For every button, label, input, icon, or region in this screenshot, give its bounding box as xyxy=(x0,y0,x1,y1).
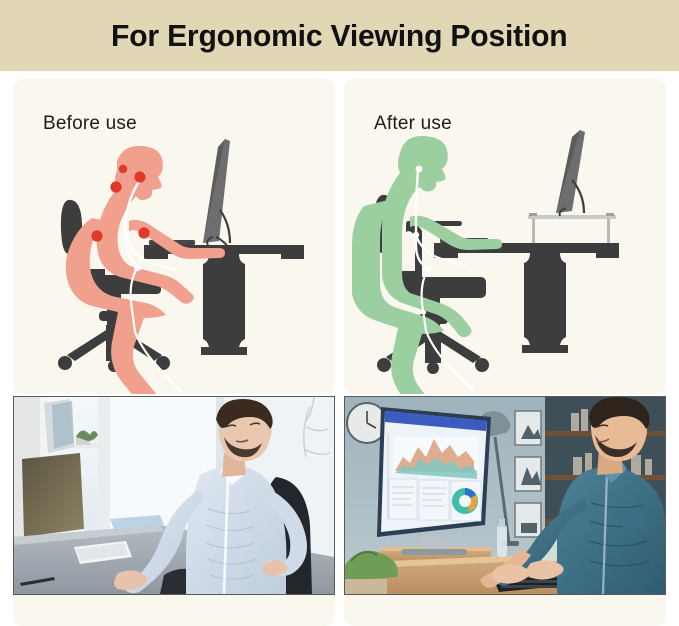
framed-picture xyxy=(515,503,541,537)
header-banner: For Ergonomic Viewing Position xyxy=(0,0,679,71)
framed-picture xyxy=(515,411,541,445)
page-title: For Ergonomic Viewing Position xyxy=(111,18,567,54)
photo-after-use xyxy=(344,396,666,595)
dashboard-chart xyxy=(393,437,479,479)
photo-before-content xyxy=(14,397,334,594)
monitor-riser-icon xyxy=(528,213,616,243)
before-use-illustration xyxy=(13,125,335,394)
photo-before-use xyxy=(13,396,335,595)
framed-picture xyxy=(515,457,541,491)
monitor-icon xyxy=(556,130,585,216)
monitor-icon xyxy=(203,139,230,247)
after-use-illustration xyxy=(344,125,666,394)
photo-after-content xyxy=(345,397,665,594)
comparison-panel-after: After use xyxy=(344,79,666,394)
desk-icon xyxy=(144,245,304,355)
dashboard-panels xyxy=(389,479,481,521)
comparison-panel-before: Before use xyxy=(13,79,335,394)
